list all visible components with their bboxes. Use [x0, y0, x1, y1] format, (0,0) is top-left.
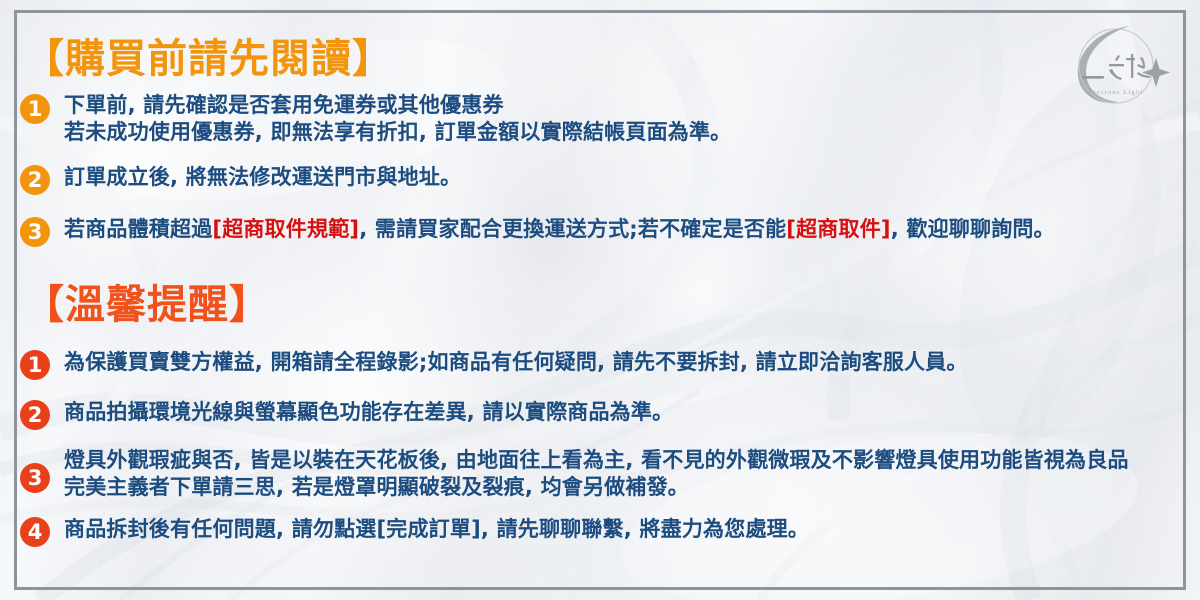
- list-item: 1 下單前, 請先確認是否套用免運券或其他優惠券 若未成功使用優惠券, 即無法享…: [20, 92, 1182, 146]
- text-run: 若商品體積超過: [64, 217, 212, 241]
- list-item-text: 商品拍攝環境光線與螢幕顯色功能存在差異, 請以實際商品為準。: [64, 398, 673, 426]
- section-title-before-purchase: 【購買前請先閱讀】: [24, 26, 393, 84]
- list-item-number-badge: 1: [20, 350, 50, 380]
- list-item: 1 為保護買賣雙方權益, 開箱請全程錄影;如商品有任何疑問, 請先不要拆封, 請…: [20, 348, 1182, 380]
- list-item-text: 訂單成立後, 將無法修改運送門市與地址。: [64, 163, 461, 191]
- list-item-number-badge: 4: [20, 517, 50, 547]
- list-item-number-badge: 2: [20, 165, 50, 195]
- text-run: , 需請買家配合更換運送方式;若不確定是否能: [359, 217, 786, 241]
- list-item-number-badge: 2: [20, 400, 50, 430]
- list-item-text: 為保護買賣雙方權益, 開箱請全程錄影;如商品有任何疑問, 請先不要拆封, 請立即…: [64, 348, 968, 376]
- list-item: 3 燈具外觀瑕疵與否, 皆是以裝在天花板後, 由地面往上看為主, 看不見的外觀微…: [20, 447, 1182, 501]
- list-item-number-badge: 1: [20, 94, 50, 124]
- list-item-number-badge: 3: [20, 217, 50, 247]
- list-item: 2 商品拍攝環境光線與螢幕顯色功能存在差異, 請以實際商品為準。: [20, 398, 1182, 430]
- list-item-text: 商品拆封後有任何問題, 請勿點選[完成訂單], 請先聊聊聯繫, 將盡力為您處理。: [64, 515, 809, 543]
- list-item: 4 商品拆封後有任何問題, 請勿點選[完成訂單], 請先聊聊聯繫, 將盡力為您處…: [20, 515, 1182, 547]
- highlighted-term: [超商取件]: [786, 217, 890, 241]
- list-item-text: 若商品體積超過[超商取件規範], 需請買家配合更換運送方式;若不確定是否能[超商…: [64, 215, 1055, 243]
- text-run: , 歡迎聊聊詢問。: [891, 217, 1055, 241]
- list-item-text: 下單前, 請先確認是否套用免運券或其他優惠券 若未成功使用優惠券, 即無法享有折…: [64, 92, 731, 146]
- list-item-number-badge: 3: [20, 463, 50, 493]
- list-item: 2 訂單成立後, 將無法修改運送門市與地址。: [20, 163, 1182, 195]
- section-title-friendly-reminder: 【溫馨提醒】: [24, 272, 270, 330]
- list-item: 3 若商品體積超過[超商取件規範], 需請買家配合更換運送方式;若不確定是否能[…: [20, 215, 1182, 247]
- list-item-text: 燈具外觀瑕疵與否, 皆是以裝在天花板後, 由地面往上看為主, 看不見的外觀微瑕及…: [64, 447, 1129, 501]
- promo-banner: Precious Light 【購買前請先閱讀】 1 下單前, 請先確認是否套用…: [0, 0, 1200, 600]
- highlighted-term: [超商取件規範]: [212, 217, 359, 241]
